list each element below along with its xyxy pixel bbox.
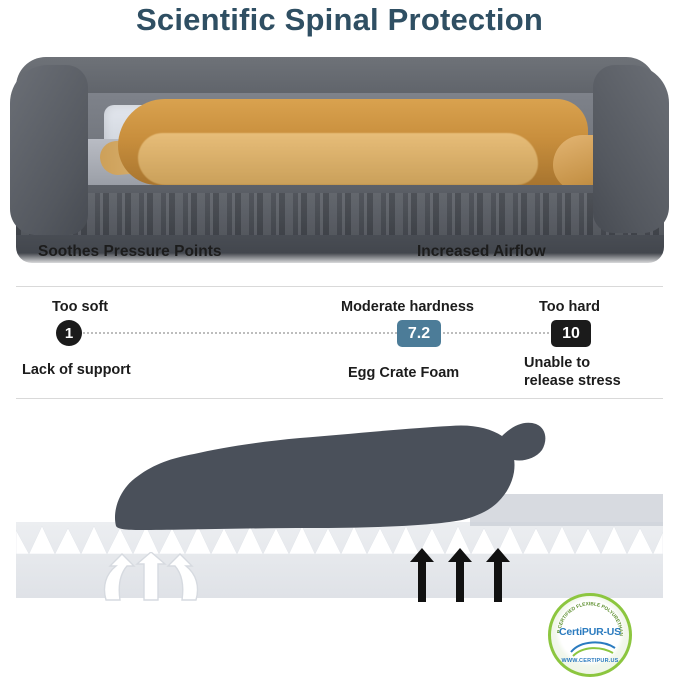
dog-fur-highlight	[138, 133, 538, 185]
scale-marker-10: 10	[551, 320, 591, 347]
divider-top	[16, 286, 663, 287]
pressure-relief-arrows-icon	[96, 552, 206, 602]
certipur-us-badge: CERTIPUR CERTIFIED FLEXIBLE POLYURETHANE…	[548, 593, 632, 677]
hardness-scale-line	[76, 332, 576, 334]
scale-caption-unable-to-release-stress: Unable to release stress	[524, 354, 642, 390]
badge-url-text: WWW.CERTIPUR.US	[551, 658, 629, 664]
airflow-arrows-icon	[408, 548, 518, 602]
scale-marker-1: 1	[56, 320, 82, 346]
bed-right-bolster	[593, 65, 669, 233]
dog-on-pet-bed-photo	[8, 47, 671, 269]
bed-left-bolster	[10, 65, 88, 235]
dog-silhouette	[110, 414, 580, 532]
divider-bottom	[16, 398, 663, 399]
badge-center-text: CertiPUR-US	[551, 626, 629, 638]
scale-label-moderate-hardness: Moderate hardness	[341, 299, 474, 315]
egg-crate-texture	[16, 193, 664, 235]
product-infographic: Scientific Spinal Protection Too soft Mo…	[0, 0, 679, 689]
scale-label-too-soft: Too soft	[52, 299, 108, 315]
scale-caption-lack-of-support: Lack of support	[22, 362, 131, 378]
caption-soothes-pressure-points: Soothes Pressure Points	[38, 243, 221, 261]
hardness-scale: Too soft Moderate hardness Too hard 1 7.…	[0, 290, 679, 394]
page-title: Scientific Spinal Protection	[0, 2, 679, 38]
badge-swoosh-icon	[569, 638, 617, 658]
scale-marker-7-2: 7.2	[397, 320, 441, 347]
scale-label-too-hard: Too hard	[539, 299, 600, 315]
caption-increased-airflow: Increased Airflow	[417, 243, 546, 261]
scale-caption-egg-crate-foam: Egg Crate Foam	[348, 365, 459, 381]
